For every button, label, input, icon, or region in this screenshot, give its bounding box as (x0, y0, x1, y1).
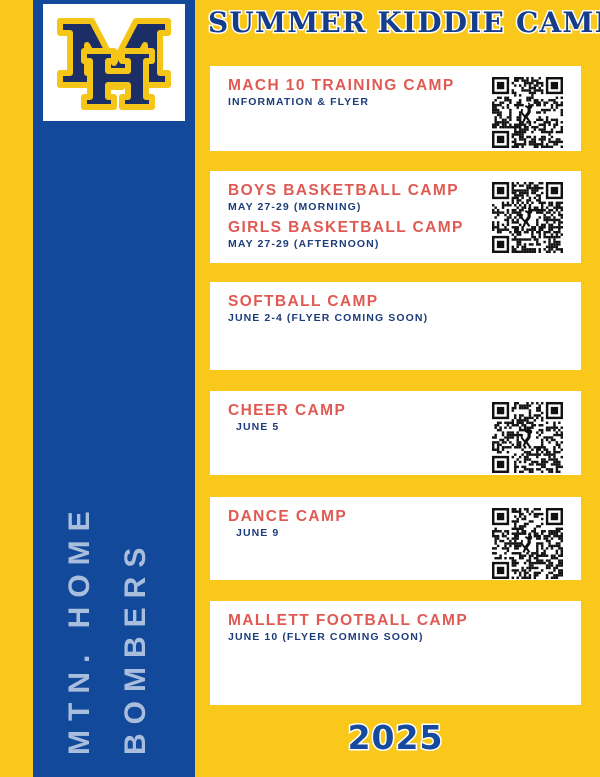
school-logo-container (43, 4, 185, 121)
camp-subtitle: JUNE 2-4 (FLYER COMING SOON) (228, 311, 581, 325)
footer-year: 2025 (208, 718, 583, 757)
camp-card-content: BOYS BASKETBALL CAMPMAY 27-29 (MORNING)G… (228, 181, 581, 263)
camp-title: SOFTBALL CAMP (228, 292, 581, 311)
sidebar-vertical-text: MTN. HOME BOMBERS (33, 130, 195, 777)
left-sidebar: MTN. HOME BOMBERS (33, 0, 195, 777)
camp-card-basketball-camps[interactable]: BOYS BASKETBALL CAMPMAY 27-29 (MORNING)G… (210, 171, 581, 263)
camp-card-dance-camp[interactable]: DANCE CAMPJUNE 9 (210, 497, 581, 580)
camp-card-content: MACH 10 TRAINING CAMPINFORMATION & FLYER (228, 76, 581, 151)
camp-card-cheer-camp[interactable]: CHEER CAMPJUNE 5 (210, 391, 581, 475)
camp-card-content: DANCE CAMPJUNE 9 (228, 507, 581, 580)
camp-title: MALLETT FOOTBALL CAMP (228, 611, 581, 630)
page-title: SUMMER KIDDIE CAMPS (208, 6, 583, 39)
camp-card-content: CHEER CAMPJUNE 5 (228, 401, 581, 475)
camp-card-content: MALLETT FOOTBALL CAMPJUNE 10 (FLYER COMI… (228, 611, 581, 705)
qr-code-icon[interactable] (492, 182, 563, 253)
camp-subtitle: JUNE 10 (FLYER COMING SOON) (228, 630, 581, 644)
sidebar-vertical-line-2: BOMBERS (119, 539, 153, 755)
qr-code-icon[interactable] (492, 77, 563, 148)
mh-bombers-logo-icon (52, 11, 176, 115)
camp-card-softball-camp[interactable]: SOFTBALL CAMPJUNE 2-4 (FLYER COMING SOON… (210, 282, 581, 370)
qr-code-icon[interactable] (492, 508, 563, 579)
qr-code-icon[interactable] (492, 402, 563, 473)
camp-card-content: SOFTBALL CAMPJUNE 2-4 (FLYER COMING SOON… (228, 292, 581, 370)
sidebar-vertical-line-1: MTN. HOME (63, 502, 97, 755)
camp-card-mallett-football-camp[interactable]: MALLETT FOOTBALL CAMPJUNE 10 (FLYER COMI… (210, 601, 581, 705)
camp-card-mach-10-training-camp[interactable]: MACH 10 TRAINING CAMPINFORMATION & FLYER (210, 66, 581, 151)
summer-kiddie-camps-poster: MTN. HOME BOMBERS SUMMER KIDDIE CAMPS MA… (0, 0, 600, 777)
